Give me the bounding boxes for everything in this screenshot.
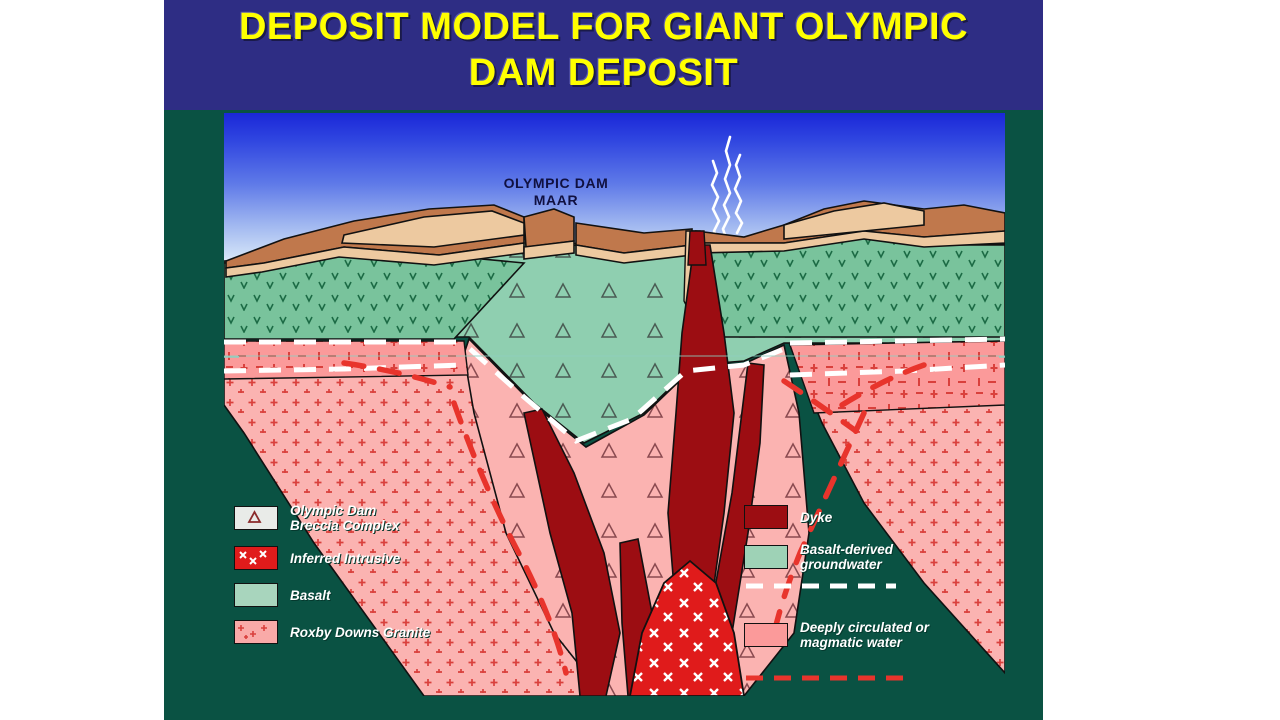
legend-item-dyke: Dyke <box>744 505 1004 529</box>
breccia-swatch <box>234 506 278 530</box>
legend-label-line2: groundwater <box>800 557 893 572</box>
water-swatch <box>744 623 788 647</box>
legend-item-intrusive: Inferred Intrusive <box>234 546 534 570</box>
legend-left: Olympic Dam Breccia Complex <box>234 503 534 657</box>
legend-item-breccia: Olympic Dam Breccia Complex <box>234 503 534 533</box>
page-title: DEPOSIT MODEL FOR GIANT OLYMPIC DAM DEPO… <box>164 4 1043 96</box>
page-title-line1: DEPOSIT MODEL FOR GIANT OLYMPIC <box>164 4 1043 50</box>
legend-label-line1: Deeply circulated or <box>800 620 929 635</box>
legend-label: Olympic Dam Breccia Complex <box>290 503 400 533</box>
cross-section-panel: OLYMPIC DAM MAAR <box>224 113 1005 696</box>
white-dashed-line-icon <box>744 581 904 591</box>
legend-item-magmatic-water: Deeply circulated or magmatic water <box>744 620 1004 650</box>
granite-swatch <box>234 620 278 644</box>
legend-label: Inferred Intrusive <box>290 551 400 566</box>
breccia-triangle-icon <box>235 507 274 526</box>
legend-label-line1: Basalt-derived <box>800 542 893 557</box>
slide: DEPOSIT MODEL FOR GIANT OLYMPIC DAM DEPO… <box>164 0 1043 720</box>
legend-label-line2: Breccia Complex <box>290 518 400 533</box>
legend-item-basalt: Basalt <box>234 583 534 607</box>
intrusive-x-icon <box>235 547 274 566</box>
granite-right-water-band <box>790 341 1005 413</box>
dyke-upper-vent <box>688 231 706 265</box>
dyke-swatch <box>744 505 788 529</box>
datum-line-extension <box>224 353 945 361</box>
legend-label-line1: Olympic Dam <box>290 503 400 518</box>
title-bar: DEPOSIT MODEL FOR GIANT OLYMPIC DAM DEPO… <box>164 0 1043 110</box>
page-title-line2: DAM DEPOSIT <box>164 50 1043 96</box>
legend-label: Deeply circulated or magmatic water <box>800 620 929 650</box>
basalt-swatch <box>234 583 278 607</box>
legend-right: Dyke Basalt-derived groundwater <box>744 505 1004 663</box>
legend-label: Basalt <box>290 588 331 603</box>
diagram-frame: OLYMPIC DAM MAAR <box>164 110 1043 720</box>
legend-label: Basalt-derived groundwater <box>800 542 893 572</box>
red-dashed-line-icon <box>744 673 914 683</box>
legend-item-granite: Roxby Downs Granite <box>234 620 534 644</box>
groundwater-swatch <box>744 545 788 569</box>
legend-label: Roxby Downs Granite <box>290 625 430 640</box>
granite-cross-icon <box>235 621 274 640</box>
datum-line-extension-right <box>999 353 1005 361</box>
intrusive-swatch <box>234 546 278 570</box>
legend-item-groundwater: Basalt-derived groundwater <box>744 542 1004 572</box>
legend-label-line2: magmatic water <box>800 635 929 650</box>
legend-label: Dyke <box>800 510 832 525</box>
